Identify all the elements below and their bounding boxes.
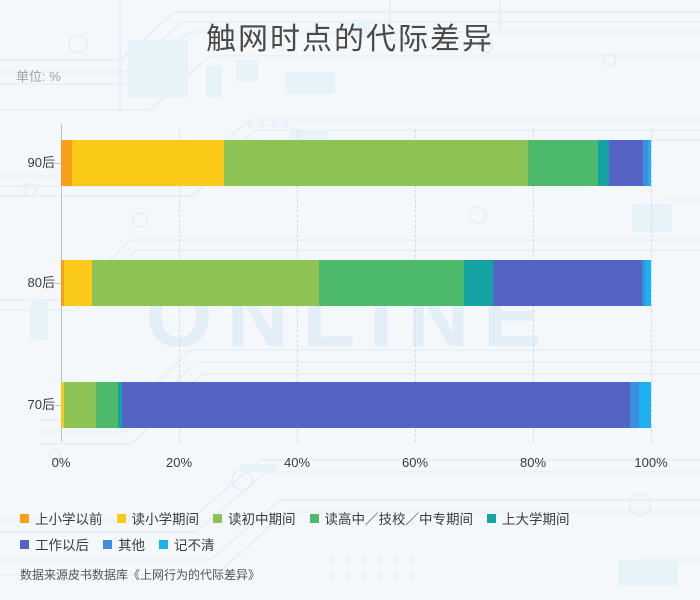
legend-swatch-icon <box>103 540 112 549</box>
bar-segment[interactable] <box>92 260 319 306</box>
bar-segment[interactable] <box>61 140 72 186</box>
legend-row: 工作以后其他记不清 <box>20 534 685 554</box>
bar-segment[interactable] <box>493 260 641 306</box>
legend-swatch-icon <box>159 540 168 549</box>
source-note: 数据来源皮书数据库《上网行为的代际差异》 <box>20 566 260 583</box>
bar-category-label: 80后 <box>0 260 55 306</box>
legend-label: 读小学期间 <box>132 508 200 528</box>
x-axis-tick-label: 100% <box>634 455 667 470</box>
bar-segment[interactable] <box>630 382 639 428</box>
bar-row: 70后 <box>0 382 700 428</box>
legend-label: 上大学期间 <box>502 508 570 528</box>
legend-label: 其他 <box>118 534 145 554</box>
legend-item-shang-xiaoxue-yiqian[interactable]: 上小学以前 <box>20 508 103 528</box>
bar-row: 80后 <box>0 260 700 306</box>
bar-segment[interactable] <box>64 260 92 306</box>
bar-category-label: 90后 <box>0 140 55 186</box>
bar-segment[interactable] <box>609 140 644 186</box>
legend-item-qita[interactable]: 其他 <box>103 534 145 554</box>
bar-segment[interactable] <box>645 260 651 306</box>
page-title: 触网时点的代际差异 <box>0 14 700 58</box>
bar-segment[interactable] <box>224 140 528 186</box>
legend-item-shang-daxue-qijian[interactable]: 上大学期间 <box>487 508 570 528</box>
x-axis-tick-label: 80% <box>520 455 546 470</box>
legend-swatch-icon <box>213 514 222 523</box>
legend-item-du-gaozhong-qijian[interactable]: 读高中／技校／中专期间 <box>310 508 474 528</box>
legend-item-du-xiaoxue-qijian[interactable]: 读小学期间 <box>117 508 200 528</box>
bar-row: 90后 <box>0 140 700 186</box>
stacked-bar <box>61 260 651 306</box>
bar-segment[interactable] <box>528 140 598 186</box>
chart-legend: 上小学以前读小学期间读初中期间读高中／技校／中专期间上大学期间工作以后其他记不清 <box>20 508 685 560</box>
legend-item-ji-bu-qing[interactable]: 记不清 <box>159 534 215 554</box>
bar-segment[interactable] <box>122 382 629 428</box>
legend-label: 记不清 <box>174 534 215 554</box>
bar-category-label: 70后 <box>0 382 55 428</box>
bar-segment[interactable] <box>648 140 651 186</box>
chart-plot-area: 90后80后70后0%20%40%60%80%100% <box>0 110 700 490</box>
bar-segment[interactable] <box>72 140 225 186</box>
legend-item-gongzuo-yihou[interactable]: 工作以后 <box>20 534 89 554</box>
bar-segment[interactable] <box>319 260 464 306</box>
legend-item-du-chuzhong-qijian[interactable]: 读初中期间 <box>213 508 296 528</box>
legend-label: 上小学以前 <box>35 508 103 528</box>
stacked-bar <box>61 382 651 428</box>
bar-segment[interactable] <box>598 140 608 186</box>
x-axis-tick-label: 20% <box>166 455 192 470</box>
bar-segment[interactable] <box>96 382 118 428</box>
legend-swatch-icon <box>20 514 29 523</box>
bar-segment[interactable] <box>64 382 96 428</box>
bar-segment[interactable] <box>639 382 651 428</box>
x-axis-tick-label: 60% <box>402 455 428 470</box>
bar-segment[interactable] <box>464 260 494 306</box>
legend-label: 工作以后 <box>35 534 89 554</box>
legend-swatch-icon <box>310 514 319 523</box>
legend-row: 上小学以前读小学期间读初中期间读高中／技校／中专期间上大学期间 <box>20 508 685 528</box>
legend-label: 读高中／技校／中专期间 <box>325 508 474 528</box>
legend-swatch-icon <box>20 540 29 549</box>
x-axis-tick-label: 40% <box>284 455 310 470</box>
stacked-bar <box>61 140 651 186</box>
x-axis-tick-label: 0% <box>52 455 71 470</box>
legend-label: 读初中期间 <box>228 508 296 528</box>
legend-swatch-icon <box>117 514 126 523</box>
legend-swatch-icon <box>487 514 496 523</box>
unit-label: 单位: % <box>16 66 61 85</box>
